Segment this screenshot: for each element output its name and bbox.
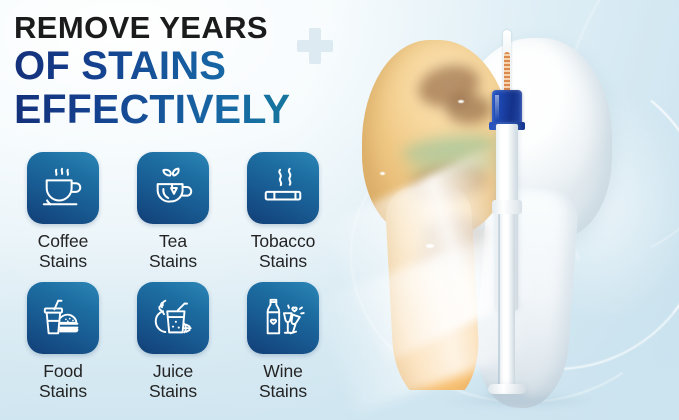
juice-tile[interactable] xyxy=(137,282,209,354)
cigarette-smoke-icon xyxy=(260,165,306,211)
teapot-leaf-icon xyxy=(150,165,196,211)
stain-type-coffee[interactable]: Coffee Stains xyxy=(8,152,118,282)
syringe-plunger xyxy=(499,214,515,390)
coffee-label-line1: Coffee xyxy=(38,231,89,251)
half-stained-half-white-tooth xyxy=(352,18,652,418)
medical-cross-icon xyxy=(297,28,333,64)
coffee-label-line2: Stains xyxy=(38,251,89,271)
food-label: Food Stains xyxy=(39,361,87,402)
whitening-gel-syringe xyxy=(480,24,534,420)
tobacco-label-line2: Stains xyxy=(251,251,315,271)
syringe-needle-thread xyxy=(504,52,510,94)
stain-type-juice[interactable]: Juice Stains xyxy=(118,282,228,412)
stain-types-grid: Coffee Stains Tea Stains xyxy=(8,152,338,412)
wine-tile[interactable] xyxy=(247,282,319,354)
ground-shadow xyxy=(412,390,632,412)
wine-label: Wine Stains xyxy=(259,361,307,402)
stain-type-tea[interactable]: Tea Stains xyxy=(118,152,228,282)
juice-label-line1: Juice xyxy=(153,361,193,381)
coffee-cup-icon xyxy=(40,165,86,211)
food-label-line2: Stains xyxy=(39,381,87,401)
juice-label: Juice Stains xyxy=(149,361,197,402)
wine-label-line1: Wine xyxy=(263,361,302,381)
stain-type-food[interactable]: Food Stains xyxy=(8,282,118,412)
wine-label-line2: Stains xyxy=(259,381,307,401)
stain-type-tobacco[interactable]: Tobacco Stains xyxy=(228,152,338,282)
burger-soda-icon xyxy=(40,295,86,341)
coffee-label: Coffee Stains xyxy=(38,231,89,272)
coffee-tile[interactable] xyxy=(27,152,99,224)
juice-label-line2: Stains xyxy=(149,381,197,401)
food-label-line1: Food xyxy=(43,361,83,381)
tea-label: Tea Stains xyxy=(149,231,197,272)
food-tile[interactable] xyxy=(27,282,99,354)
promo-banner: REMOVE YEARS OF STAINS EFFECTIVELY xyxy=(0,0,679,420)
juice-glass-icon xyxy=(150,295,196,341)
syringe-collar xyxy=(492,200,522,214)
syringe-blue-cap xyxy=(492,90,522,126)
tea-tile[interactable] xyxy=(137,152,209,224)
tea-label-line1: Tea xyxy=(159,231,187,251)
headline-line-3: EFFECTIVELY xyxy=(14,88,384,130)
tea-label-line2: Stains xyxy=(149,251,197,271)
tobacco-label: Tobacco Stains xyxy=(251,231,315,272)
tobacco-tile[interactable] xyxy=(247,152,319,224)
wine-bottle-glasses-icon xyxy=(260,295,306,341)
tobacco-label-line1: Tobacco xyxy=(251,231,315,251)
stain-type-wine[interactable]: Wine Stains xyxy=(228,282,338,412)
product-illustration xyxy=(330,0,679,420)
